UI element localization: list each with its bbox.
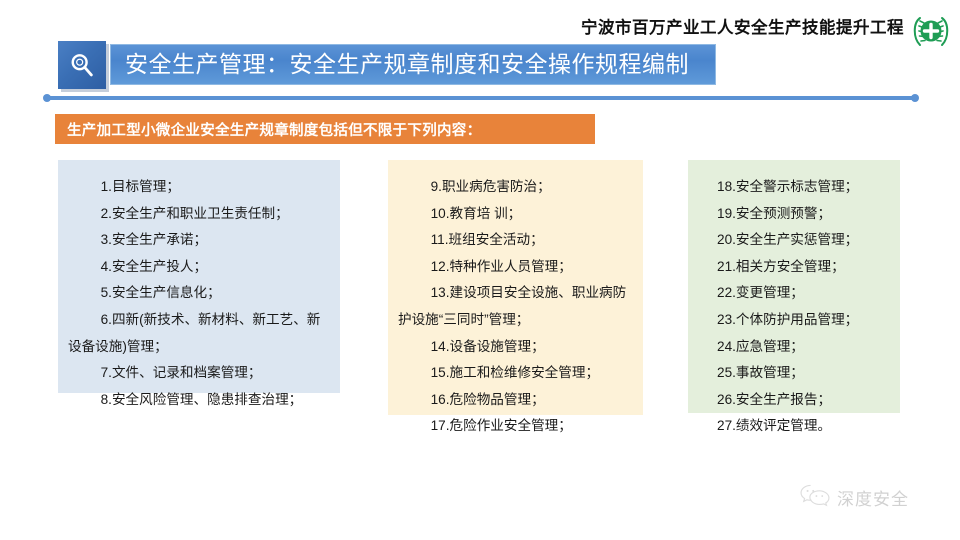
list-item: 22.变更管理； bbox=[698, 280, 890, 307]
list-item: 8.安全风险管理、隐患排查治理； bbox=[68, 387, 330, 414]
list-item: 4.安全生产投人； bbox=[68, 254, 330, 281]
list-item: 24.应急管理； bbox=[698, 334, 890, 361]
list-item: 5.安全生产信息化； bbox=[68, 280, 330, 307]
brand-title: 宁波市百万产业工人安全生产技能提升工程 bbox=[581, 14, 904, 38]
list-item: 17.危险作业安全管理； bbox=[398, 413, 633, 440]
wechat-icon bbox=[800, 483, 830, 512]
list-item: 25.事故管理； bbox=[698, 360, 890, 387]
content-column-blue: 1.目标管理；2.安全生产和职业卫生责任制；3.安全生产承诺；4.安全生产投人；… bbox=[58, 160, 340, 393]
slide-canvas: 宁波市百万产业工人安全生产技能提升工程 安全生产管理：安全生产规章制度和安全操作… bbox=[0, 0, 960, 540]
section-banner-text: 生产加工型小微企业安全生产规章制度包括但不限于下列内容： bbox=[67, 119, 481, 140]
list-item: 27.绩效评定管理。 bbox=[698, 413, 890, 440]
list-item: 23.个体防护用品管理； bbox=[698, 307, 890, 334]
safety-seal-logo bbox=[910, 10, 952, 52]
list-item: 1.目标管理； bbox=[68, 174, 330, 201]
list-item: 18.安全警示标志管理； bbox=[698, 174, 890, 201]
list-item: 21.相关方安全管理； bbox=[698, 254, 890, 281]
list-item: 19.安全预测预警； bbox=[698, 201, 890, 228]
list-item: 20.安全生产实惩管理； bbox=[698, 227, 890, 254]
list-item: 14.设备设施管理； bbox=[398, 334, 633, 361]
list-item: 15.施工和检维修安全管理； bbox=[398, 360, 633, 387]
page-title-text: 安全生产管理：安全生产规章制度和安全操作规程编制 bbox=[125, 53, 689, 76]
watermark: 深度安全 bbox=[800, 483, 909, 512]
list-item: 13.建设项目安全设施、职业病防护设施“三同时”管理； bbox=[398, 280, 633, 333]
list-item: 2.安全生产和职业卫生责任制； bbox=[68, 201, 330, 228]
list-item: 9.职业病危害防治； bbox=[398, 174, 633, 201]
content-column-green: 18.安全警示标志管理；19.安全预测预警；20.安全生产实惩管理；21.相关方… bbox=[688, 160, 900, 413]
list-item: 16.危险物品管理； bbox=[398, 387, 633, 414]
list-item: 10.教育培 训； bbox=[398, 201, 633, 228]
list-item: 12.特种作业人员管理； bbox=[398, 254, 633, 281]
section-banner: 生产加工型小微企业安全生产规章制度包括但不限于下列内容： bbox=[55, 114, 595, 144]
list-item: 7.文件、记录和档案管理； bbox=[68, 360, 330, 387]
page-title: 安全生产管理：安全生产规章制度和安全操作规程编制 bbox=[110, 44, 716, 85]
magnifier-icon bbox=[58, 41, 106, 89]
list-item: 6.四新(新技术、新材料、新工艺、新设备设施)管理； bbox=[68, 307, 330, 360]
list-item: 3.安全生产承诺； bbox=[68, 227, 330, 254]
divider-line bbox=[47, 96, 915, 100]
list-item: 11.班组安全活动； bbox=[398, 227, 633, 254]
watermark-text: 深度安全 bbox=[837, 485, 909, 510]
list-item: 26.安全生产报告； bbox=[698, 387, 890, 414]
content-column-yellow: 9.职业病危害防治；10.教育培 训；11.班组安全活动；12.特种作业人员管理… bbox=[388, 160, 643, 415]
